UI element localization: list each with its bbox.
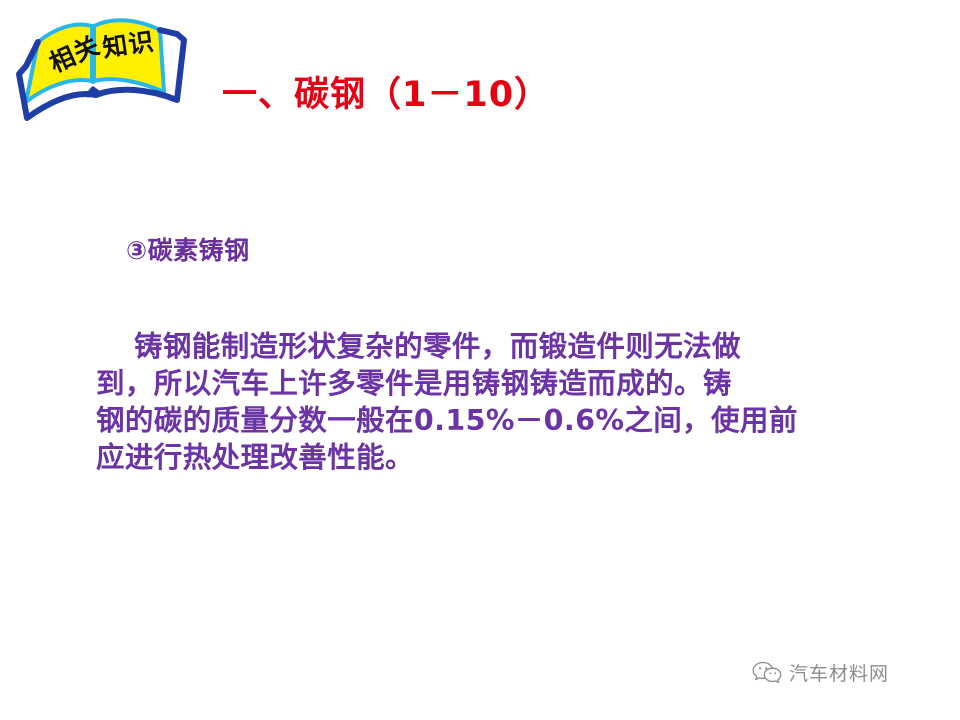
body-paragraph: 铸钢能制造形状复杂的零件，而锻造件则无法做 到，所以汽车上许多零件是用铸钢铸造而…	[96, 328, 844, 476]
watermark: 汽车材料网	[752, 659, 889, 686]
body-line: 钢的碳的质量分数一般在0.15%－0.6%之间，使用前	[96, 402, 844, 439]
slide-canvas: 相关 知识 一、碳钢（1－10） ③碳素铸钢 铸钢能制造形状复杂的零件，而锻造件…	[0, 0, 960, 720]
body-line: 铸钢能制造形状复杂的零件，而锻造件则无法做	[96, 328, 844, 365]
open-book-badge: 相关 知识	[14, 4, 190, 124]
slide-title: 一、碳钢（1－10）	[222, 66, 550, 117]
section-heading: ③碳素铸钢	[126, 231, 250, 267]
body-line: 应进行热处理改善性能。	[96, 439, 844, 476]
open-book-icon	[14, 4, 190, 124]
book-label-right: 知识	[100, 22, 157, 65]
wechat-icon	[752, 660, 782, 686]
body-line: 到，所以汽车上许多零件是用铸钢铸造而成的。铸	[96, 365, 844, 402]
watermark-text: 汽车材料网	[789, 659, 889, 686]
